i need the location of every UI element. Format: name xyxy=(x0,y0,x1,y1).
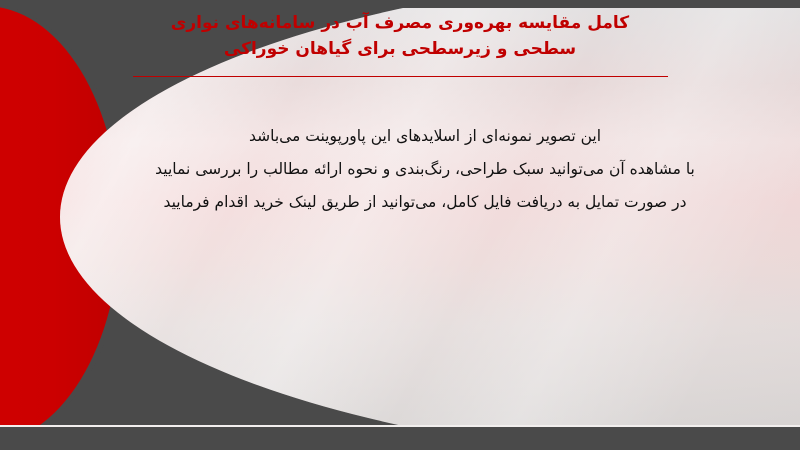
presentation-slide: کامل مقایسه بهره‌وری مصرف آب در سامانه‌ه… xyxy=(0,0,800,450)
body-line-3: در صورت تمایل به دریافت فایل کامل، می‌تو… xyxy=(110,186,740,219)
slide-header: کامل مقایسه بهره‌وری مصرف آب در سامانه‌ه… xyxy=(0,10,800,90)
body-line-2: با مشاهده آن می‌توانید سبک طراحی، رنگ‌بن… xyxy=(110,153,740,186)
slide-title-line-2: سطحی و زیرسطحی برای گیاهان خوراکی xyxy=(0,36,800,62)
bottom-frame-band xyxy=(0,427,800,450)
title-underline-rule xyxy=(133,76,668,77)
slide-title-line-1: کامل مقایسه بهره‌وری مصرف آب در سامانه‌ه… xyxy=(0,10,800,36)
body-line-1: این تصویر نمونه‌ای از اسلایدهای این پاور… xyxy=(110,120,740,153)
slide-body: این تصویر نمونه‌ای از اسلایدهای این پاور… xyxy=(110,120,740,219)
